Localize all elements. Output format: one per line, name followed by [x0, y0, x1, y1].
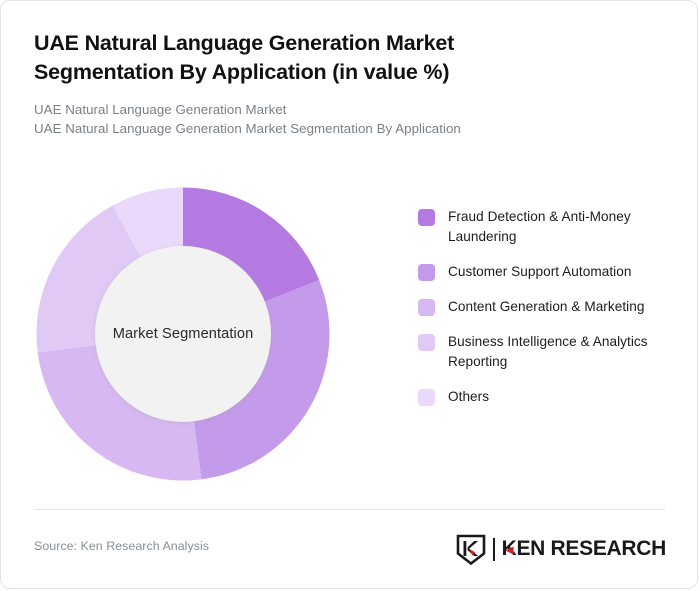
legend-item-label: Business Intelligence & Analytics Report… [448, 332, 680, 372]
legend-swatch-icon [418, 389, 435, 406]
chart-legend: Fraud Detection & Anti-Money LaunderingC… [418, 207, 680, 407]
footer-divider [34, 509, 666, 510]
logo-accent-triangle-icon [505, 546, 514, 555]
page-title: UAE Natural Language Generation Market S… [34, 29, 554, 87]
legend-item-label: Content Generation & Marketing [448, 297, 644, 317]
logo-divider-bar [493, 538, 495, 561]
legend-item-label: Fraud Detection & Anti-Money Laundering [448, 207, 680, 247]
legend-swatch-icon [418, 209, 435, 226]
chart-header: UAE Natural Language Generation Market S… [34, 29, 654, 138]
ken-research-k-monogram-icon [456, 534, 486, 565]
legend-swatch-icon [418, 334, 435, 351]
ken-research-logo: KEN RESEARCH [456, 533, 666, 565]
donut-chart: Market Segmentation [33, 184, 333, 484]
donut-hole [95, 246, 271, 422]
chart-footer: Source: Ken Research Analysis KEN RESEAR… [34, 533, 666, 565]
chart-body: Market Segmentation Fraud Detection & An… [1, 169, 698, 499]
subtitle-block: UAE Natural Language Generation Market U… [34, 100, 654, 138]
legend-item-label: Customer Support Automation [448, 262, 631, 282]
source-text: Source: Ken Research Analysis [34, 539, 209, 553]
legend-swatch-icon [418, 264, 435, 281]
legend-item[interactable]: Others [418, 387, 680, 407]
legend-swatch-icon [418, 299, 435, 316]
logo-wordmark: KEN RESEARCH [502, 537, 666, 561]
legend-item[interactable]: Business Intelligence & Analytics Report… [418, 332, 680, 372]
subtitle-segmentation: UAE Natural Language Generation Market S… [34, 119, 654, 138]
legend-item[interactable]: Content Generation & Marketing [418, 297, 680, 317]
logo-wordmark-text: KEN RESEARCH [502, 537, 666, 561]
legend-item-label: Others [448, 387, 489, 407]
legend-item[interactable]: Fraud Detection & Anti-Money Laundering [418, 207, 680, 247]
chart-card: UAE Natural Language Generation Market S… [0, 0, 698, 589]
legend-item[interactable]: Customer Support Automation [418, 262, 680, 282]
donut-svg [33, 184, 333, 484]
subtitle-market: UAE Natural Language Generation Market [34, 100, 654, 119]
